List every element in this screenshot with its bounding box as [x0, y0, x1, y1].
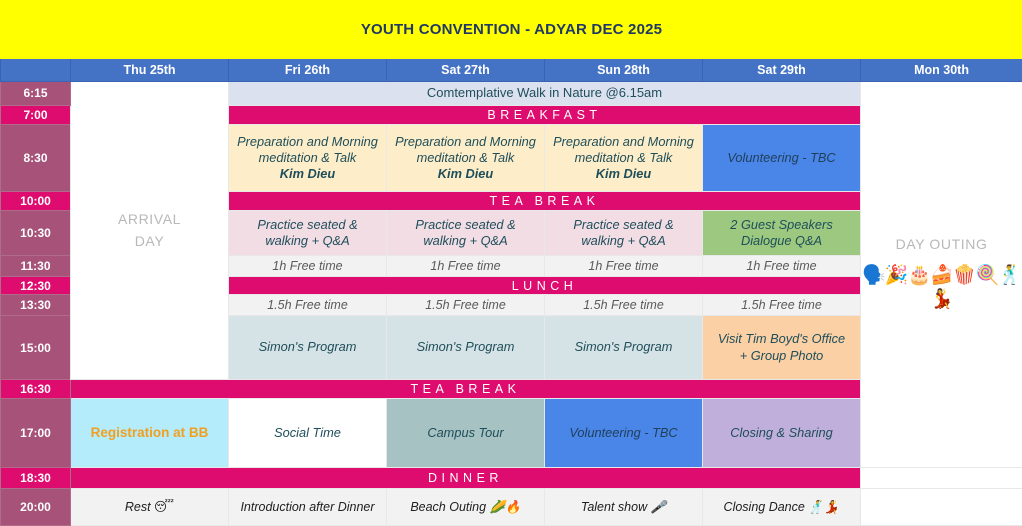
cell-sat29-evening[interactable]: Closing Dance 🕺💃	[703, 488, 861, 525]
day-outing-label: DAY OUTING	[896, 236, 988, 252]
cell-sat27-campus-tour[interactable]: Campus Tour	[387, 398, 545, 467]
day-header-sat27[interactable]: Sat 27th	[387, 58, 545, 81]
time-label-0700: 7:00	[1, 106, 71, 125]
cell-sat27-free-1h[interactable]: 1h Free time	[387, 256, 545, 277]
practice-line-1: Practice seated &	[415, 217, 515, 232]
practice-line-2: walking + Q&A	[581, 233, 665, 248]
guest-line-1: 2 Guest Speakers	[730, 217, 832, 232]
day-header-row: Thu 25th Fri 26th Sat 27th Sun 28th Sat …	[1, 58, 1022, 81]
cell-lunch[interactable]: LUNCH	[229, 276, 861, 295]
cell-contemplative-walk[interactable]: Comtemplative Walk in Nature @6.15am	[229, 81, 861, 106]
cell-mon-dinner-spacer	[861, 468, 1022, 489]
cell-fri-evening[interactable]: Introduction after Dinner	[229, 488, 387, 525]
time-label-1630: 16:30	[1, 380, 71, 399]
time-column-header	[1, 58, 71, 81]
cell-sat29-tim-boyd-visit[interactable]: Visit Tim Boyd's Office + Group Photo	[703, 316, 861, 380]
day-header-mon[interactable]: Mon 30th	[861, 58, 1022, 81]
cell-sat29-volunteering-am[interactable]: Volunteering - TBC	[703, 124, 861, 191]
day-header-thu[interactable]: Thu 25th	[71, 58, 229, 81]
cell-dinner[interactable]: DINNER	[71, 468, 861, 489]
row-0615: 6:15 ARRIVAL DAY Comtemplative Walk in N…	[1, 81, 1022, 106]
cell-sat27-morning-session[interactable]: Preparation and Morning meditation & Tal…	[387, 124, 545, 191]
cell-fri-practice[interactable]: Practice seated & walking + Q&A	[229, 210, 387, 255]
day-outing-emoji: 🗣️🎉🎂🍰🍿🍭🕺💃	[861, 264, 1022, 313]
day-header-sat29[interactable]: Sat 29th	[703, 58, 861, 81]
time-label-1500: 15:00	[1, 316, 71, 380]
cell-sun-practice[interactable]: Practice seated & walking + Q&A	[545, 210, 703, 255]
day-header-sun[interactable]: Sun 28th	[545, 58, 703, 81]
morning-line-1: Preparation and Morning	[553, 134, 694, 149]
day-header-fri[interactable]: Fri 26th	[229, 58, 387, 81]
cell-fri-free-15h[interactable]: 1.5h Free time	[229, 295, 387, 316]
cell-sun-evening[interactable]: Talent show 🎤	[545, 488, 703, 525]
practice-line-1: Practice seated &	[573, 217, 673, 232]
cell-fri-simons-program[interactable]: Simon's Program	[229, 316, 387, 380]
time-label-0615: 6:15	[1, 81, 71, 106]
practice-line-1: Practice seated &	[257, 217, 357, 232]
morning-speaker: Kim Dieu	[229, 166, 386, 182]
cell-sat27-evening[interactable]: Beach Outing 🌽🔥	[387, 488, 545, 525]
cell-sun-free-15h[interactable]: 1.5h Free time	[545, 295, 703, 316]
morning-line-1: Preparation and Morning	[237, 134, 378, 149]
practice-line-2: walking + Q&A	[423, 233, 507, 248]
cell-sun-simons-program[interactable]: Simon's Program	[545, 316, 703, 380]
cell-sun-free-1h[interactable]: 1h Free time	[545, 256, 703, 277]
time-label-2000: 20:00	[1, 488, 71, 525]
cell-sat29-free-15h[interactable]: 1.5h Free time	[703, 295, 861, 316]
cell-tea-break-am[interactable]: TEA BREAK	[229, 192, 861, 211]
row-1830-dinner: 18:30 DINNER	[1, 468, 1022, 489]
time-label-1130: 11:30	[1, 256, 71, 277]
cell-fri-free-1h[interactable]: 1h Free time	[229, 256, 387, 277]
time-label-1830: 18:30	[1, 468, 71, 489]
cell-sat27-practice[interactable]: Practice seated & walking + Q&A	[387, 210, 545, 255]
tim-boyd-line-2: + Group Photo	[740, 348, 824, 363]
morning-line-2: meditation & Talk	[417, 150, 515, 165]
cell-sat27-simons-program[interactable]: Simon's Program	[387, 316, 545, 380]
cell-thu-registration[interactable]: Registration at BB	[71, 398, 229, 467]
cell-breakfast[interactable]: BREAKFAST	[229, 106, 861, 125]
cell-thu-arrival-day[interactable]: ARRIVAL DAY	[71, 81, 229, 380]
cell-mon-day-outing[interactable]: DAY OUTING 🗣️🎉🎂🍰🍿🍭🕺💃	[861, 81, 1022, 467]
morning-line-2: meditation & Talk	[259, 150, 357, 165]
morning-speaker: Kim Dieu	[387, 166, 544, 182]
morning-line-2: meditation & Talk	[575, 150, 673, 165]
guest-line-2: Dialogue Q&A	[741, 233, 822, 248]
title-row: YOUTH CONVENTION - ADYAR DEC 2025	[1, 1, 1022, 59]
cell-sat27-free-15h[interactable]: 1.5h Free time	[387, 295, 545, 316]
schedule-page: YOUTH CONVENTION - ADYAR DEC 2025 Thu 25…	[0, 0, 1022, 526]
morning-line-1: Preparation and Morning	[395, 134, 536, 149]
cell-thu-evening[interactable]: Rest 😴	[71, 488, 229, 525]
cell-sun-volunteering-pm[interactable]: Volunteering - TBC	[545, 398, 703, 467]
cell-sat29-guest-speakers[interactable]: 2 Guest Speakers Dialogue Q&A	[703, 210, 861, 255]
practice-line-2: walking + Q&A	[265, 233, 349, 248]
cell-sun-morning-session[interactable]: Preparation and Morning meditation & Tal…	[545, 124, 703, 191]
cell-fri-social-time[interactable]: Social Time	[229, 398, 387, 467]
time-label-1230: 12:30	[1, 276, 71, 295]
cell-mon-evening-spacer	[861, 488, 1022, 525]
arrival-line-1: ARRIVAL	[118, 211, 181, 227]
schedule-table: YOUTH CONVENTION - ADYAR DEC 2025 Thu 25…	[0, 0, 1022, 526]
morning-speaker: Kim Dieu	[545, 166, 702, 182]
time-label-1000: 10:00	[1, 192, 71, 211]
cell-fri-morning-session[interactable]: Preparation and Morning meditation & Tal…	[229, 124, 387, 191]
page-title: YOUTH CONVENTION - ADYAR DEC 2025	[1, 1, 1022, 59]
time-label-0830: 8:30	[1, 124, 71, 191]
cell-tea-break-pm[interactable]: TEA BREAK	[71, 380, 861, 399]
tim-boyd-line-1: Visit Tim Boyd's Office	[718, 331, 845, 346]
row-2000: 20:00 Rest 😴 Introduction after Dinner B…	[1, 488, 1022, 525]
time-label-1700: 17:00	[1, 398, 71, 467]
arrival-line-2: DAY	[135, 233, 165, 249]
cell-sat29-closing-sharing[interactable]: Closing & Sharing	[703, 398, 861, 467]
time-label-1330: 13:30	[1, 295, 71, 316]
time-label-1030: 10:30	[1, 210, 71, 255]
cell-sat29-free-1h[interactable]: 1h Free time	[703, 256, 861, 277]
